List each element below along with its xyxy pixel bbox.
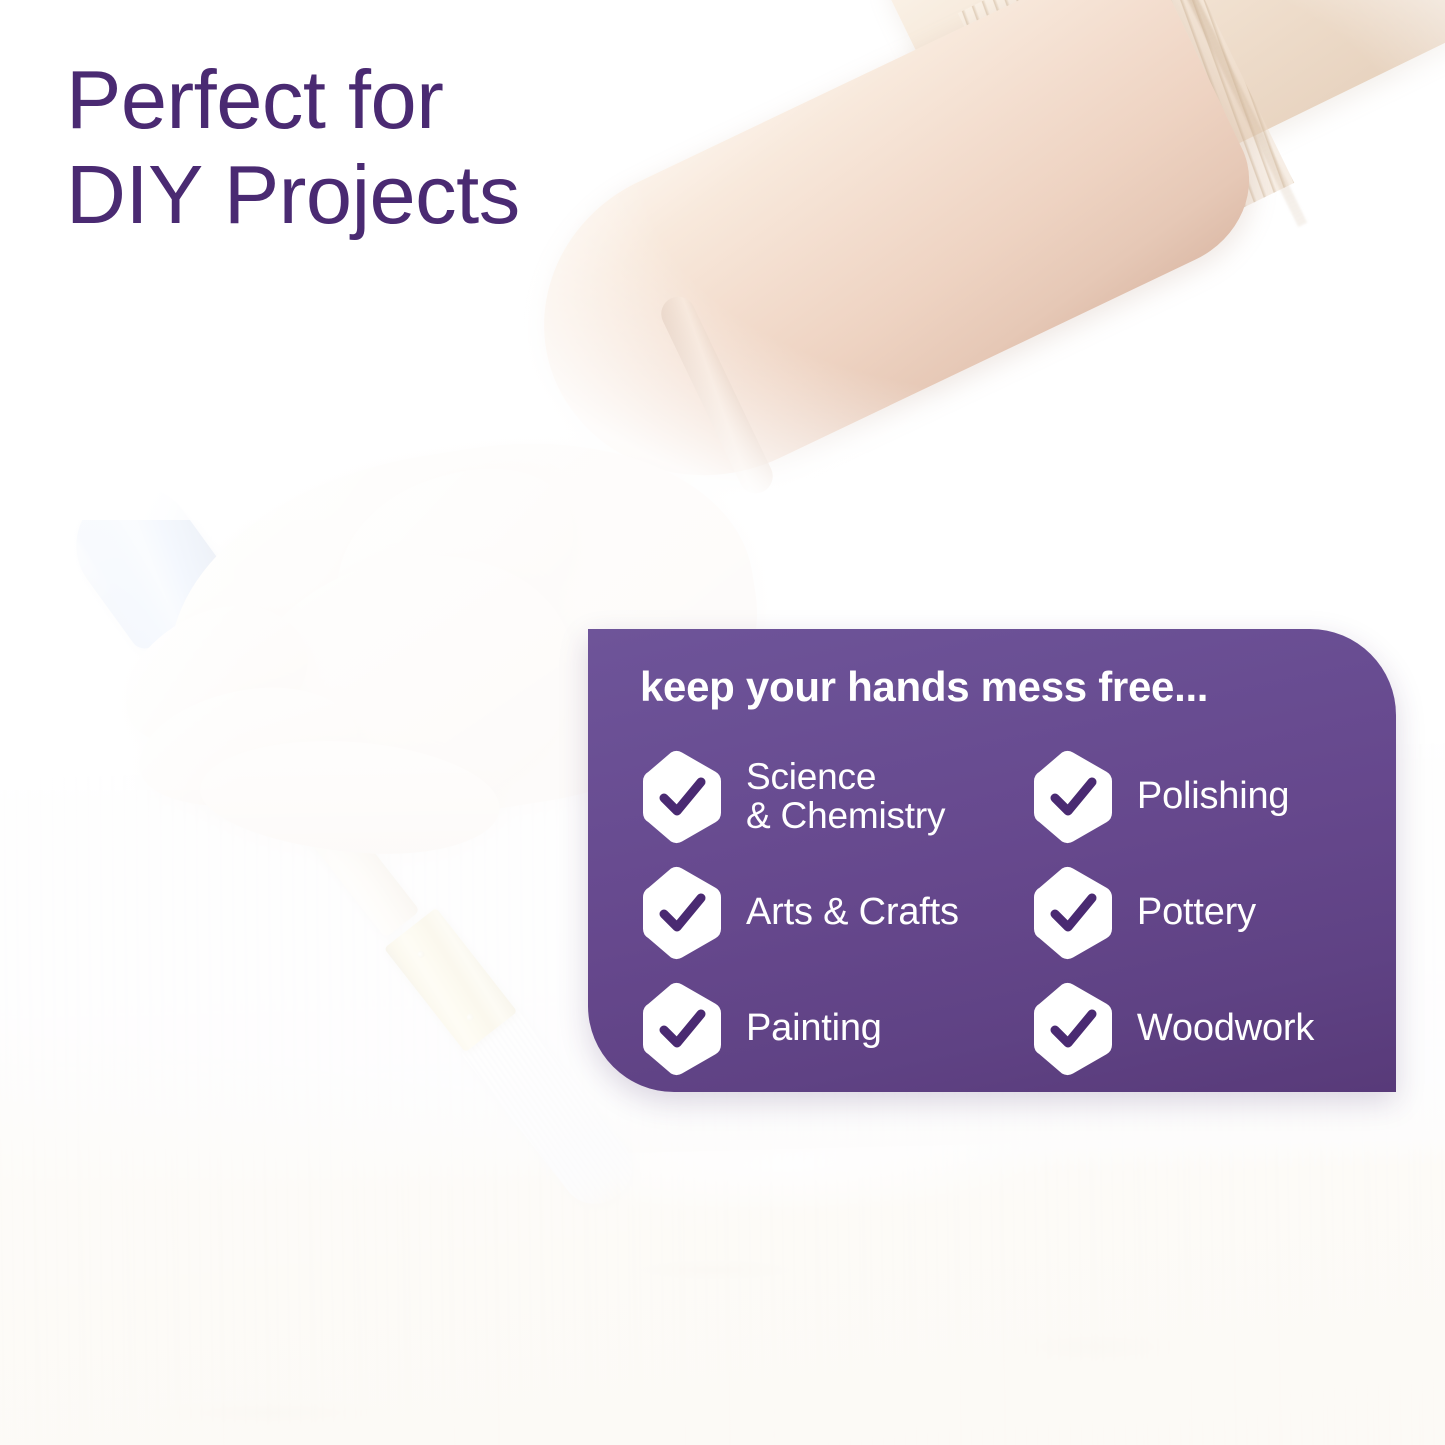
page-title: Perfect for DIY Projects xyxy=(66,52,706,243)
check-hexagon-icon xyxy=(1031,866,1115,960)
list-item-label: Woodwork xyxy=(1137,1009,1314,1049)
feature-columns: Science & Chemistry Arts & Crafts xyxy=(640,739,1370,1087)
list-item-label: Pottery xyxy=(1137,893,1256,933)
product-marketing-image: Perfect for DIY Projects keep your hands… xyxy=(0,0,1445,1445)
list-item: Arts & Crafts xyxy=(640,855,1031,971)
list-item-label: Polishing xyxy=(1137,777,1289,817)
wood-grain-accent xyxy=(1000,1330,1190,1364)
check-hexagon-icon xyxy=(640,982,724,1076)
wood-grain-accent xyxy=(640,1260,790,1280)
wood-grain-accent xyxy=(150,1400,390,1426)
check-hexagon-icon xyxy=(1031,982,1115,1076)
check-hexagon-icon xyxy=(640,750,724,844)
feature-column-right: Polishing Pottery xyxy=(1031,739,1370,1087)
check-hexagon-icon xyxy=(640,866,724,960)
list-item-label: Science & Chemistry xyxy=(746,758,945,836)
list-item-label: Painting xyxy=(746,1009,882,1049)
list-item-label: Arts & Crafts xyxy=(746,893,959,933)
ferrule-rivet xyxy=(465,1012,475,1022)
list-item: Painting xyxy=(640,971,1031,1087)
list-item: Woodwork xyxy=(1031,971,1370,1087)
feature-panel: keep your hands mess free... Science & C… xyxy=(588,629,1396,1092)
check-hexagon-icon xyxy=(1031,750,1115,844)
panel-heading: keep your hands mess free... xyxy=(640,663,1208,711)
list-item: Pottery xyxy=(1031,855,1370,971)
list-item: Science & Chemistry xyxy=(640,739,1031,855)
feature-column-left: Science & Chemistry Arts & Crafts xyxy=(640,739,1031,1087)
ferrule-rivet xyxy=(416,949,426,959)
list-item: Polishing xyxy=(1031,739,1370,855)
paint-edge-feather xyxy=(619,1143,1040,1213)
